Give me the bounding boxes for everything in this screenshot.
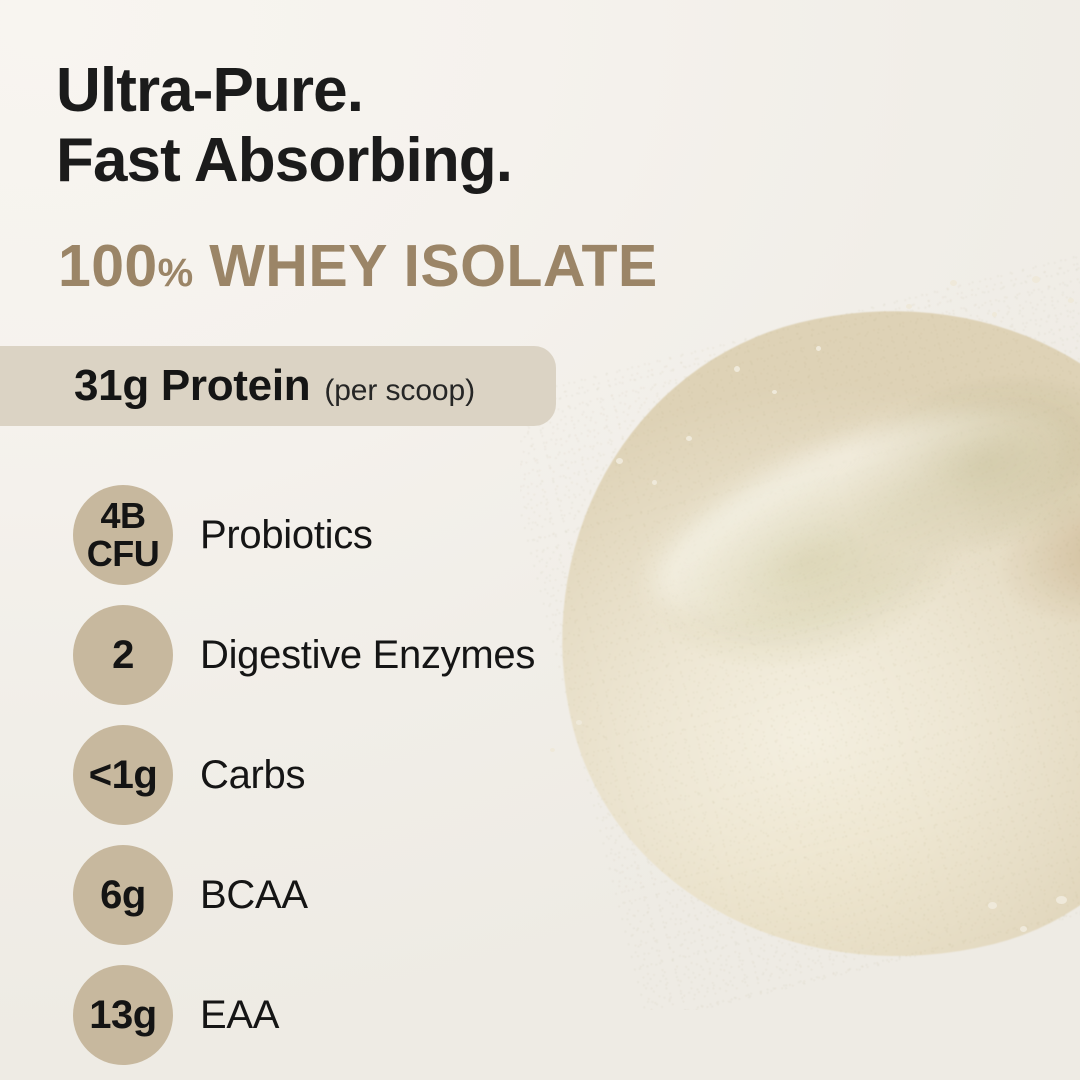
stat-badge-carbs: <1g [73,725,173,825]
stat-value-line-1: <1g [89,755,158,795]
stat-label-probiotics: Probiotics [200,513,373,558]
powder-speck [1020,926,1027,932]
powder-speck [988,902,997,909]
protein-banner-content: 31g Protein (per scoop) [74,361,475,411]
stat-label-carbs: Carbs [200,753,305,798]
protein-amount: 31g Protein [74,361,310,411]
stat-label-eaa: EAA [200,993,279,1038]
list-item: <1g Carbs [73,715,693,835]
nutrition-stat-list: 4B CFU Probiotics 2 Digestive Enzymes <1… [73,475,693,1075]
headline-line-1: Ultra-Pure. [56,56,716,126]
product-infographic: Ultra-Pure. Fast Absorbing. 100 % WHEY I… [0,0,1080,1080]
list-item: 6g BCAA [73,835,693,955]
powder-speck [816,346,821,351]
stat-badge-bcaa: 6g [73,845,173,945]
list-item: 13g EAA [73,955,693,1075]
stat-label-digestive-enzymes: Digestive Enzymes [200,633,535,678]
powder-speck [772,390,777,394]
headline-line-2: Fast Absorbing. [56,126,716,196]
stat-badge-probiotics: 4B CFU [73,485,173,585]
powder-speck [950,280,957,286]
page-title: Ultra-Pure. Fast Absorbing. [56,56,716,196]
stat-value-line-1: 2 [112,635,134,675]
list-item: 2 Digestive Enzymes [73,595,693,715]
stat-badge-digestive-enzymes: 2 [73,605,173,705]
stat-badge-eaa: 13g [73,965,173,1065]
list-item: 4B CFU Probiotics [73,475,693,595]
stat-label-bcaa: BCAA [200,873,308,918]
powder-speck [1056,896,1067,904]
subheadline-percent: % [158,251,194,296]
protein-serving-note: (per scoop) [324,374,475,408]
stat-value-line-1: 4B [100,498,145,534]
stat-value-line-1: 13g [89,995,156,1035]
powder-speck [616,458,623,464]
powder-speck [686,436,692,441]
powder-speck [992,312,997,317]
powder-speck [906,304,912,309]
powder-highlight-ridge [628,366,1080,664]
powder-speck [1068,298,1074,303]
powder-speck [1032,276,1040,283]
stat-value-line-2: CFU [87,536,160,572]
powder-speck [734,366,740,372]
stat-value-line-1: 6g [100,875,146,915]
subheadline: 100 % WHEY ISOLATE [58,232,658,300]
subheadline-text: WHEY ISOLATE [209,232,657,300]
protein-banner: 31g Protein (per scoop) [0,346,556,426]
subheadline-number: 100 [58,232,158,300]
